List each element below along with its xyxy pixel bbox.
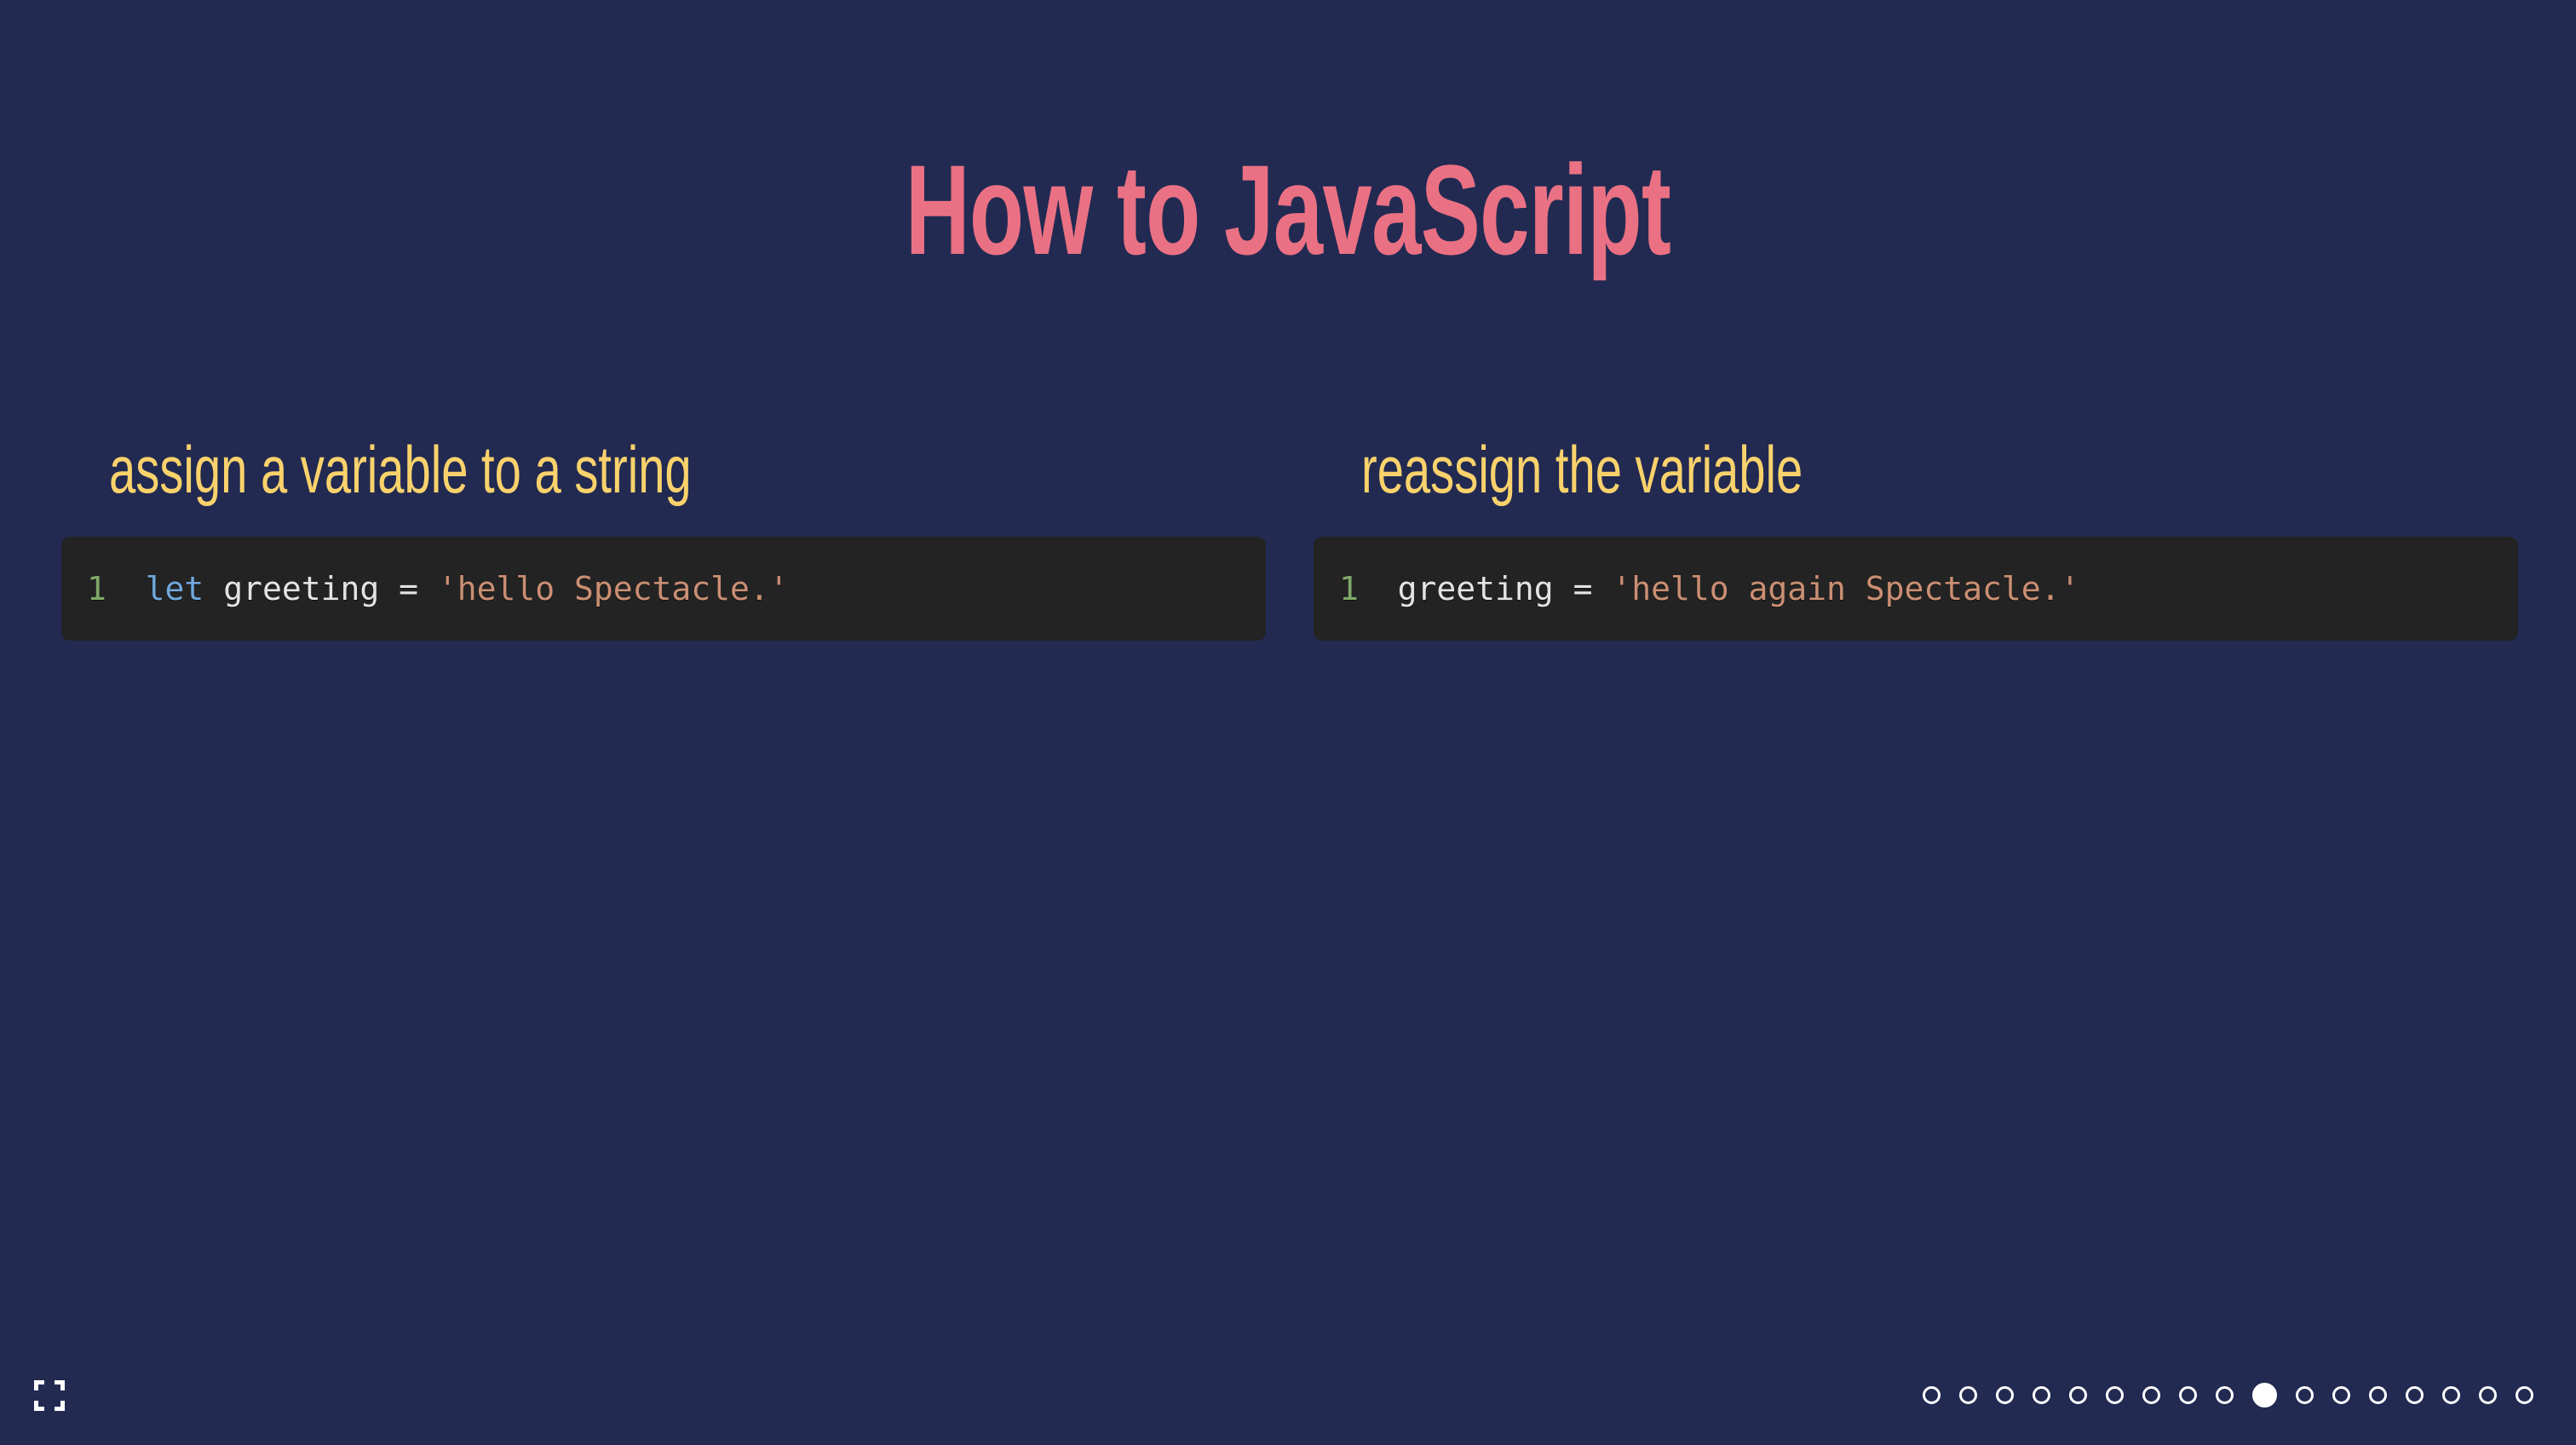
nav-dot[interactable] xyxy=(2106,1386,2124,1404)
code-token-string: 'hello Spectacle.' xyxy=(438,570,789,607)
code-token-space xyxy=(1554,570,1573,607)
nav-dot[interactable] xyxy=(2516,1386,2533,1404)
nav-dot-active[interactable] xyxy=(2252,1383,2277,1408)
code-gap xyxy=(1359,570,1398,607)
nav-dot[interactable] xyxy=(2142,1386,2160,1404)
content-columns: assign a variable to a string 1 let gree… xyxy=(61,436,2518,641)
code-token-space xyxy=(1592,570,1612,607)
nav-dot[interactable] xyxy=(2069,1386,2087,1404)
code-line-number: 1 xyxy=(1339,570,1359,607)
nav-dot[interactable] xyxy=(2442,1386,2460,1404)
nav-dot[interactable] xyxy=(2216,1386,2234,1404)
code-token-string: 'hello again Spectacle.' xyxy=(1612,570,2079,607)
code-gap xyxy=(106,570,146,607)
nav-dot[interactable] xyxy=(2479,1386,2497,1404)
nav-dot[interactable] xyxy=(1959,1386,1977,1404)
column-reassign-variable: reassign the variable 1 greeting = 'hell… xyxy=(1314,436,2518,641)
code-line-number: 1 xyxy=(87,570,106,607)
nav-dot[interactable] xyxy=(2332,1386,2350,1404)
slide-navigation-dots[interactable] xyxy=(1923,1380,2533,1409)
fullscreen-icon[interactable] xyxy=(32,1379,66,1413)
nav-dot[interactable] xyxy=(1923,1386,1941,1404)
nav-dot[interactable] xyxy=(2033,1386,2050,1404)
nav-dot[interactable] xyxy=(2369,1386,2387,1404)
column-assign-variable: assign a variable to a string 1 let gree… xyxy=(61,436,1266,641)
nav-dot[interactable] xyxy=(2406,1386,2424,1404)
presentation-slide: How to JavaScript assign a variable to a… xyxy=(0,0,2576,1445)
code-line: 1 let greeting = 'hello Spectacle.' xyxy=(87,567,1240,610)
code-token-keyword: let xyxy=(146,570,204,607)
code-token-identifier: greeting xyxy=(223,570,379,607)
nav-dot[interactable] xyxy=(2296,1386,2314,1404)
code-token-operator: = xyxy=(399,570,418,607)
code-line: 1 greeting = 'hello again Spectacle.' xyxy=(1339,567,2493,610)
code-token-space xyxy=(379,570,399,607)
page-title: How to JavaScript xyxy=(387,143,2190,278)
code-block-assign: 1 let greeting = 'hello Spectacle.' xyxy=(61,537,1266,641)
column-heading-reassign: reassign the variable xyxy=(1361,436,2194,503)
column-heading-assign: assign a variable to a string xyxy=(109,436,942,503)
code-token-space xyxy=(418,570,438,607)
code-token-space xyxy=(204,570,223,607)
code-token-operator: = xyxy=(1573,570,1593,607)
code-block-reassign: 1 greeting = 'hello again Spectacle.' xyxy=(1314,537,2518,641)
code-token-identifier: greeting xyxy=(1398,570,1554,607)
nav-dot[interactable] xyxy=(2179,1386,2197,1404)
nav-dot[interactable] xyxy=(1996,1386,2014,1404)
